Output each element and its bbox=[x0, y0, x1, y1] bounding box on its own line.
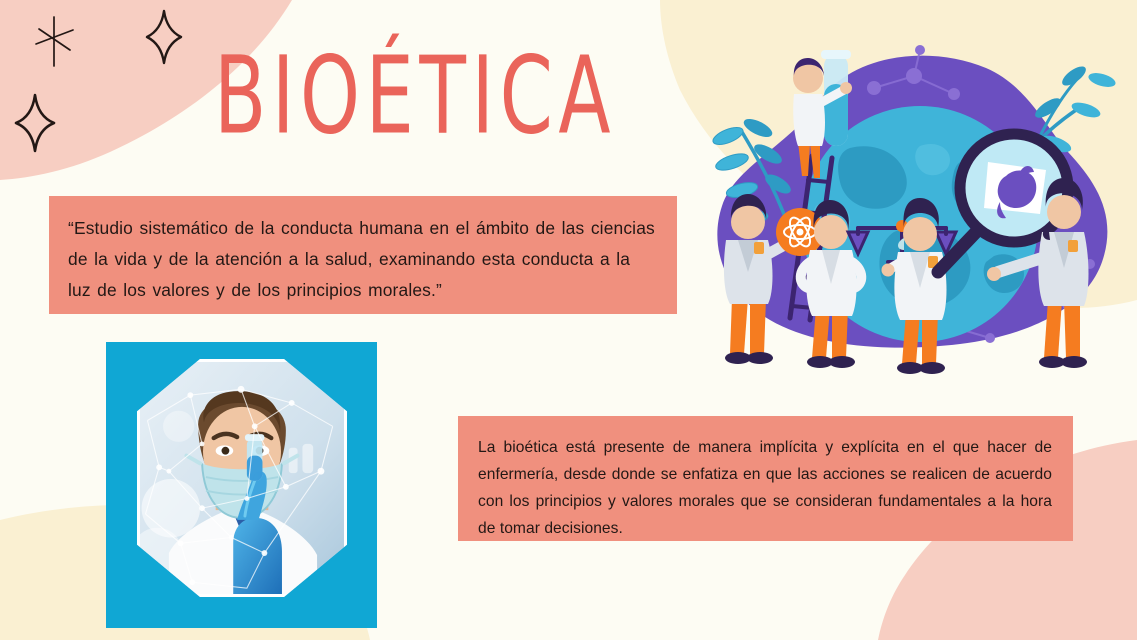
photo-card bbox=[106, 342, 377, 628]
bioethics-illustration bbox=[698, 36, 1137, 381]
scientist-photo bbox=[137, 359, 347, 597]
slide-canvas: BIOÉTICA “Estudio sistemático de la cond… bbox=[0, 0, 1137, 640]
page-title: BIOÉTICA bbox=[214, 44, 698, 151]
scientist-photo-graphic bbox=[140, 362, 344, 594]
diamond-sparkle-icon bbox=[143, 8, 185, 66]
quote-text: “Estudio sistemático de la conducta huma… bbox=[68, 213, 655, 306]
diamond-sparkle-icon bbox=[12, 92, 58, 154]
statement-box: La bioética está presente de manera impl… bbox=[458, 416, 1073, 541]
four-point-star-icon bbox=[26, 14, 82, 70]
bioethics-illustration-graphic bbox=[698, 36, 1137, 381]
quote-box: “Estudio sistemático de la conducta huma… bbox=[49, 196, 677, 314]
statement-text: La bioética está presente de manera impl… bbox=[478, 434, 1052, 542]
